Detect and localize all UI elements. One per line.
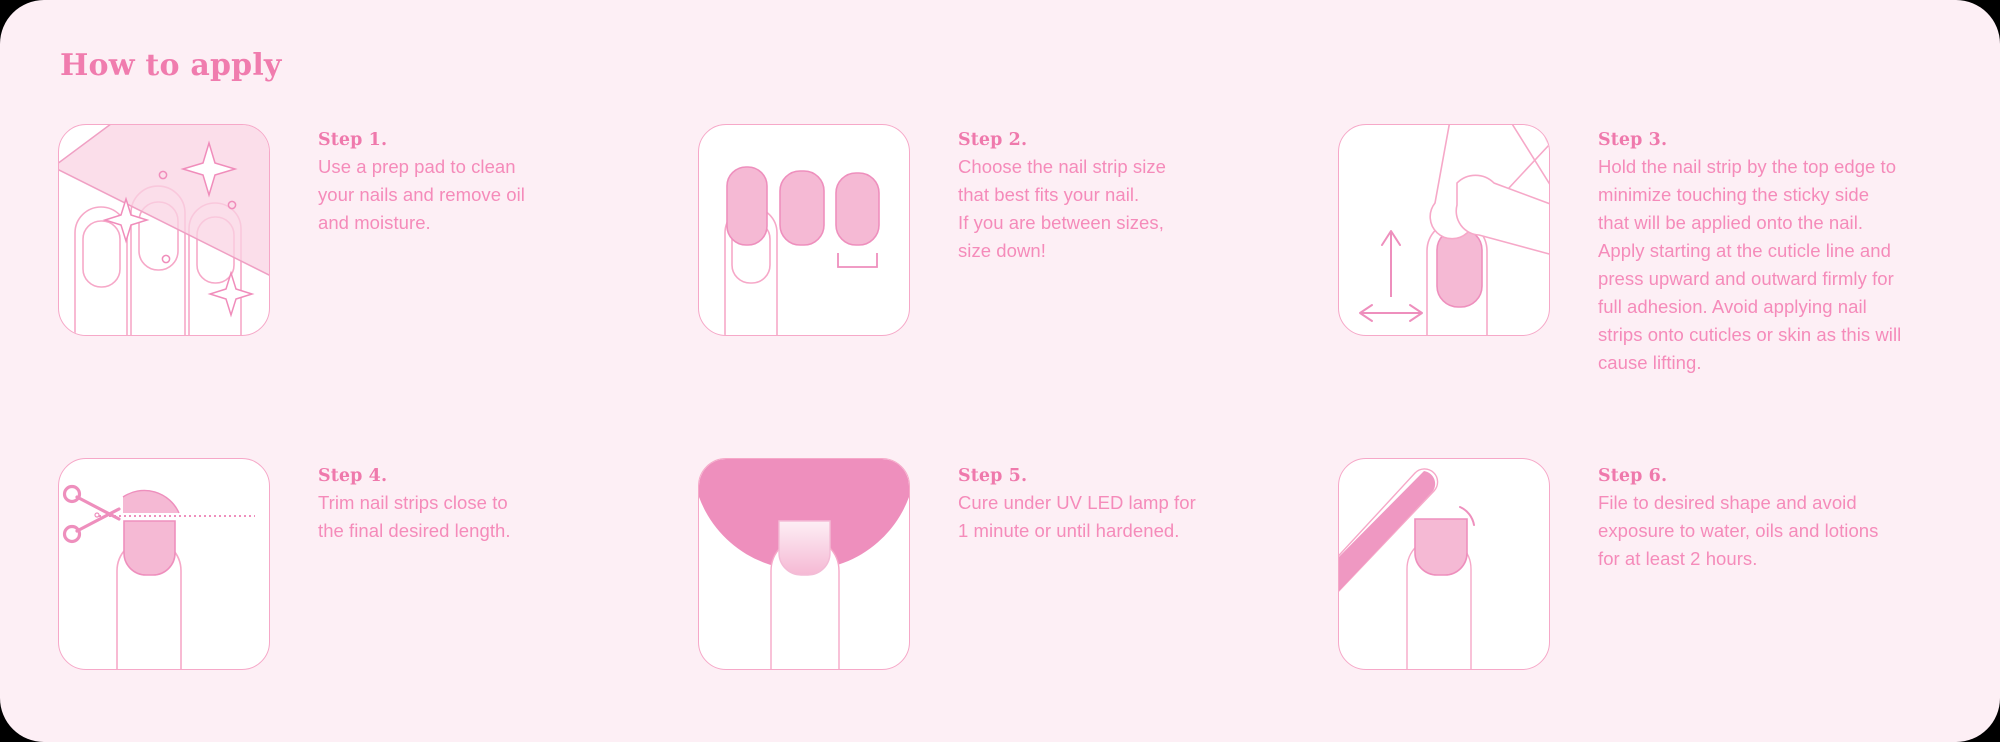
uv-led-lamp-cure-icon	[699, 459, 909, 669]
steps-grid: Step 1. Use a prep pad to clean your nai…	[58, 124, 1958, 670]
step-5-body: Cure under UV LED lamp for 1 minute or u…	[958, 489, 1196, 545]
step-6-copy: Step 6. File to desired shape and avoid …	[1598, 458, 1878, 573]
step-6-label: Step 6.	[1598, 466, 1878, 486]
step-3-label: Step 3.	[1598, 130, 1901, 150]
nail-file-shape-icon	[1339, 459, 1549, 669]
step-card-5: Step 5. Cure under UV LED lamp for 1 min…	[698, 458, 1338, 670]
step-1-copy: Step 1. Use a prep pad to clean your nai…	[318, 124, 525, 237]
prep-pad-wipe-icon	[59, 125, 269, 335]
step-6-body: File to desired shape and avoid exposure…	[1598, 489, 1878, 573]
step-card-6: Step 6. File to desired shape and avoid …	[1338, 458, 1978, 670]
step-card-4: Step 4. Trim nail strips close to the fi…	[58, 458, 698, 670]
step-2-label: Step 2.	[958, 130, 1166, 150]
step-1-label: Step 1.	[318, 130, 525, 150]
step-4-copy: Step 4. Trim nail strips close to the fi…	[318, 458, 511, 545]
step-3-copy: Step 3. Hold the nail strip by the top e…	[1598, 124, 1901, 377]
step-1-illustration	[58, 124, 270, 336]
step-5-illustration	[698, 458, 910, 670]
nail-strip-sizes-icon	[699, 125, 909, 335]
scissors-trim-icon	[59, 459, 269, 669]
step-3-illustration	[1338, 124, 1550, 336]
step-1-body: Use a prep pad to clean your nails and r…	[318, 153, 525, 237]
how-to-apply-panel: How to apply	[0, 0, 2000, 742]
step-5-label: Step 5.	[958, 466, 1196, 486]
step-2-body: Choose the nail strip size that best fit…	[958, 153, 1166, 265]
step-6-illustration	[1338, 458, 1550, 670]
page-title: How to apply	[60, 48, 282, 83]
step-4-label: Step 4.	[318, 466, 511, 486]
step-card-3: Step 3. Hold the nail strip by the top e…	[1338, 124, 1978, 444]
step-5-copy: Step 5. Cure under UV LED lamp for 1 min…	[958, 458, 1196, 545]
step-2-illustration	[698, 124, 910, 336]
step-card-2: Step 2. Choose the nail strip size that …	[698, 124, 1338, 444]
step-4-body: Trim nail strips close to the final desi…	[318, 489, 511, 545]
apply-strip-press-icon	[1339, 125, 1549, 335]
step-2-copy: Step 2. Choose the nail strip size that …	[958, 124, 1166, 265]
step-4-illustration	[58, 458, 270, 670]
step-card-1: Step 1. Use a prep pad to clean your nai…	[58, 124, 698, 444]
step-3-body: Hold the nail strip by the top edge to m…	[1598, 153, 1901, 377]
